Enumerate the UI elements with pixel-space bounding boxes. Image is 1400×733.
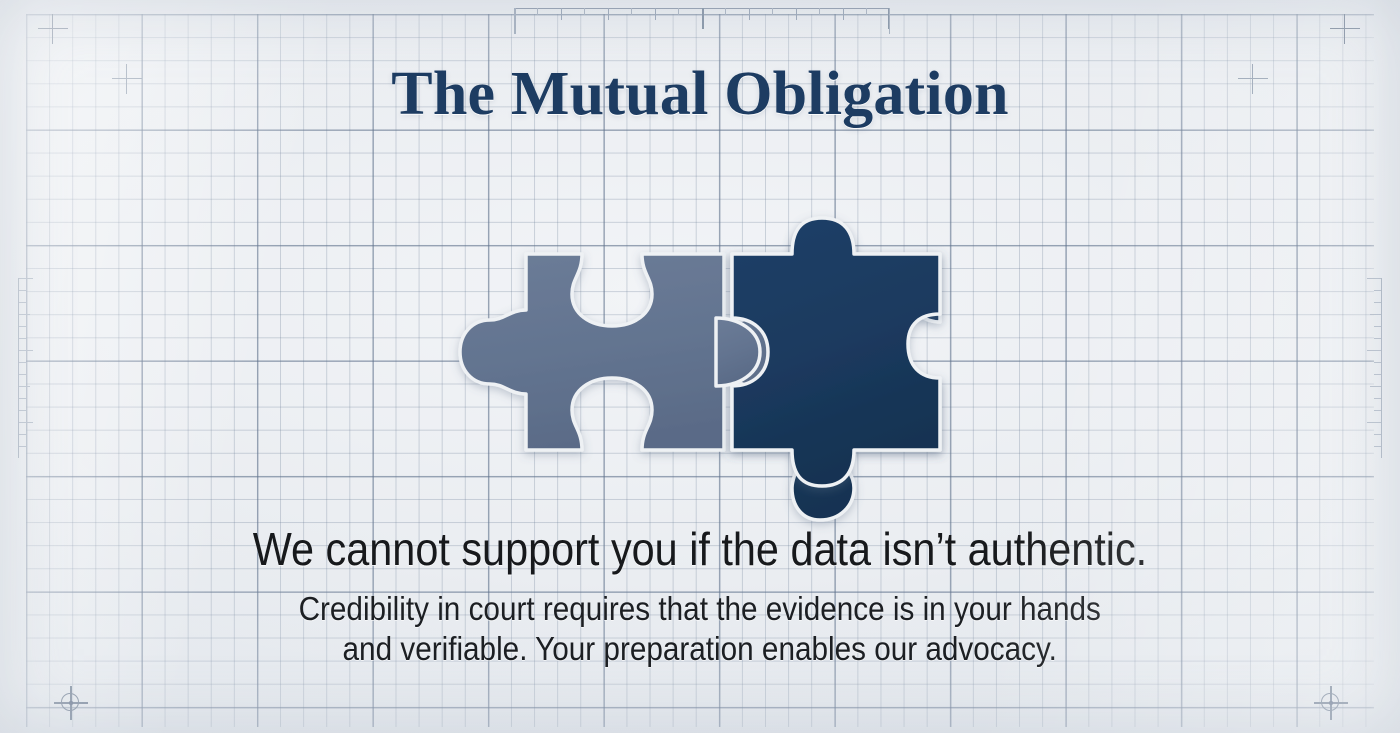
slide-title: The Mutual Obligation bbox=[391, 62, 1008, 126]
subtext-line-2: and verifiable. Your preparation enables… bbox=[299, 629, 1101, 669]
puzzle-graphic bbox=[440, 182, 960, 512]
subtext-line-1: Credibility in court requires that the e… bbox=[299, 589, 1101, 629]
slide-canvas: The Mutual Obligation bbox=[0, 0, 1400, 733]
slide-content: The Mutual Obligation bbox=[0, 0, 1400, 733]
slide-headline: We cannot support you if the data isn’t … bbox=[253, 524, 1147, 575]
slide-subtext: Credibility in court requires that the e… bbox=[299, 589, 1101, 670]
